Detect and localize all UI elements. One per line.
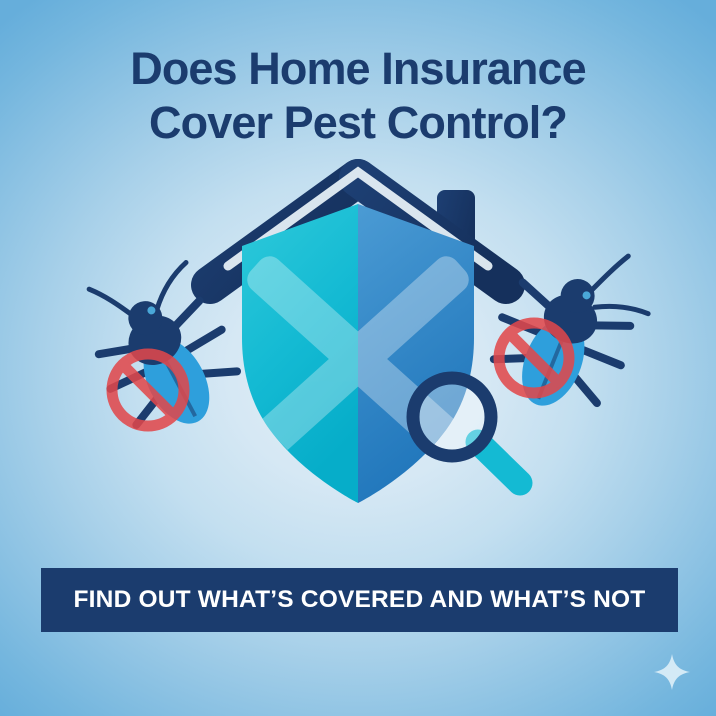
page-title: Does Home Insurance Cover Pest Control? [0,42,716,151]
cta-banner[interactable]: FIND OUT WHAT’S COVERED AND WHAT’S NOT [41,568,678,632]
sparkle-icon [652,652,692,692]
prohibition-sign-left-icon [112,354,184,426]
bug-right-icon [477,221,666,431]
cta-banner-text: FIND OUT WHAT’S COVERED AND WHAT’S NOT [74,586,646,614]
poster-canvas: Does Home Insurance Cover Pest Control? [0,0,716,716]
prohibition-sign-right-icon [499,323,569,393]
shield-x-mark-right [336,251,474,467]
protective-shield-icon [242,204,474,503]
magnifying-glass-icon [413,378,520,483]
bug-left-icon [64,243,254,450]
house-roof-icon [210,178,506,285]
shield-x-mark-left [242,251,380,467]
roof-shield-gap [228,172,488,266]
